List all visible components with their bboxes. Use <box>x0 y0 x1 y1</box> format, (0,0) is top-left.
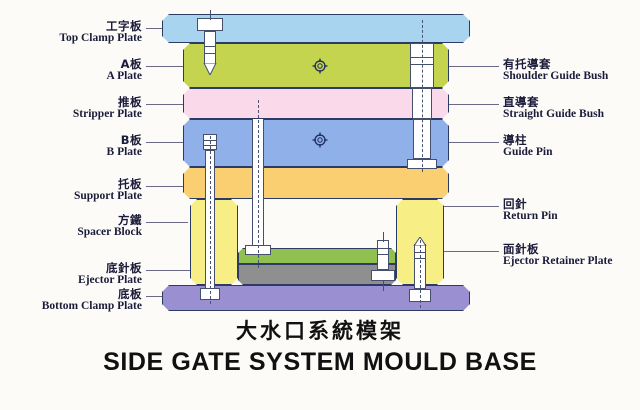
label-guide-pin: 導柱 Guide Pin <box>503 134 640 159</box>
label-cn: 底板 <box>0 288 142 300</box>
cap-screw-thread-2 <box>204 53 216 54</box>
return-pin-thread-1 <box>377 248 389 249</box>
label-en: Top Clamp Plate <box>0 32 142 44</box>
label-straight-guide-bush: 直導套 Straight Guide Bush <box>503 96 640 121</box>
label-bottom-clamp-plate: 底板 Bottom Clamp Plate <box>0 288 142 313</box>
return-pin-axis-lower <box>383 281 384 291</box>
leader-stripper-plate <box>146 104 188 105</box>
label-cn: 面針板 <box>503 243 640 255</box>
label-en: B Plate <box>0 146 142 158</box>
diagram-title: 大水口系統模架 SIDE GATE SYSTEM MOULD BASE <box>0 315 640 377</box>
label-cn: 底針板 <box>0 262 142 274</box>
label-shoulder-guide-bush: 有托導套 Shoulder Guide Bush <box>503 58 640 83</box>
centre-rod-centerline <box>258 100 259 268</box>
label-en: Bottom Clamp Plate <box>0 300 142 312</box>
bottom-screw-thread-2 <box>414 258 426 259</box>
label-en: A Plate <box>0 70 142 82</box>
title-cn: 大水口系統模架 <box>0 315 640 345</box>
title-en: SIDE GATE SYSTEM MOULD BASE <box>0 348 640 377</box>
label-en: Straight Guide Bush <box>503 108 640 120</box>
label-en: Ejector Plate <box>0 274 142 286</box>
label-return-pin: 回針 Return Pin <box>503 198 640 223</box>
leader-return-pin <box>441 206 499 207</box>
label-stripper-plate: 推板 Stripper Plate <box>0 96 142 121</box>
label-en: Stripper Plate <box>0 108 142 120</box>
label-support-plate: 托板 Support Plate <box>0 178 142 203</box>
label-ejector-plate: 底針板 Ejector Plate <box>0 262 142 287</box>
label-cn: 導柱 <box>503 134 640 146</box>
label-cn: 回針 <box>503 198 640 210</box>
label-cn: 直導套 <box>503 96 640 108</box>
label-top-clamp-plate: 工字板 Top Clamp Plate <box>0 20 142 45</box>
label-en: Return Pin <box>503 210 640 222</box>
plate-stripper-plate <box>183 88 449 119</box>
return-pin-head <box>371 270 395 281</box>
label-spacer-block: 方鐵 Spacer Block <box>0 214 142 239</box>
label-a-plate: A板 A Plate <box>0 58 142 83</box>
leader-a-plate <box>146 66 188 67</box>
bottom-screw-centerline <box>420 240 421 308</box>
label-en: Shoulder Guide Bush <box>503 70 640 82</box>
label-cn: 方鐵 <box>0 214 142 226</box>
label-en: Support Plate <box>0 190 142 202</box>
plate-support-plate <box>183 167 449 199</box>
label-ejector-retainer-plate: 面針板 Ejector Retainer Plate <box>503 243 640 268</box>
label-en: Guide Pin <box>503 146 640 158</box>
label-cn: 工字板 <box>0 20 142 32</box>
ejector-pin-centerline <box>210 136 211 304</box>
cap-screw-shank <box>204 31 216 64</box>
label-cn: 推板 <box>0 96 142 108</box>
datum-target-icon-a-plate <box>312 58 328 74</box>
ejector-pin-thread-2 <box>203 145 217 146</box>
label-cn: 托板 <box>0 178 142 190</box>
label-cn: B板 <box>0 134 142 146</box>
mould-base-diagram: 工字板 Top Clamp Plate A板 A Plate 推板 Stripp… <box>0 0 640 410</box>
leader-b-plate <box>146 142 188 143</box>
guide-pin-centerline <box>422 20 423 172</box>
ejector-pin-thread-1 <box>203 140 217 141</box>
bottom-screw-thread-1 <box>414 252 426 253</box>
label-cn: A板 <box>0 58 142 70</box>
cap-screw-axis <box>210 10 211 20</box>
return-pin-axis <box>383 232 384 242</box>
cap-screw-tip-icon <box>203 63 217 75</box>
datum-target-icon-b-plate <box>312 132 328 148</box>
cap-screw-thread-1 <box>204 46 216 47</box>
leader-support-plate <box>146 186 188 187</box>
leader-spacer-block <box>146 222 188 223</box>
label-cn: 有托導套 <box>503 58 640 70</box>
label-b-plate: B板 B Plate <box>0 134 142 159</box>
return-pin-shaft <box>377 240 389 270</box>
return-pin-thread-2 <box>377 254 389 255</box>
label-en: Ejector Retainer Plate <box>503 255 640 267</box>
label-en: Spacer Block <box>0 226 142 238</box>
